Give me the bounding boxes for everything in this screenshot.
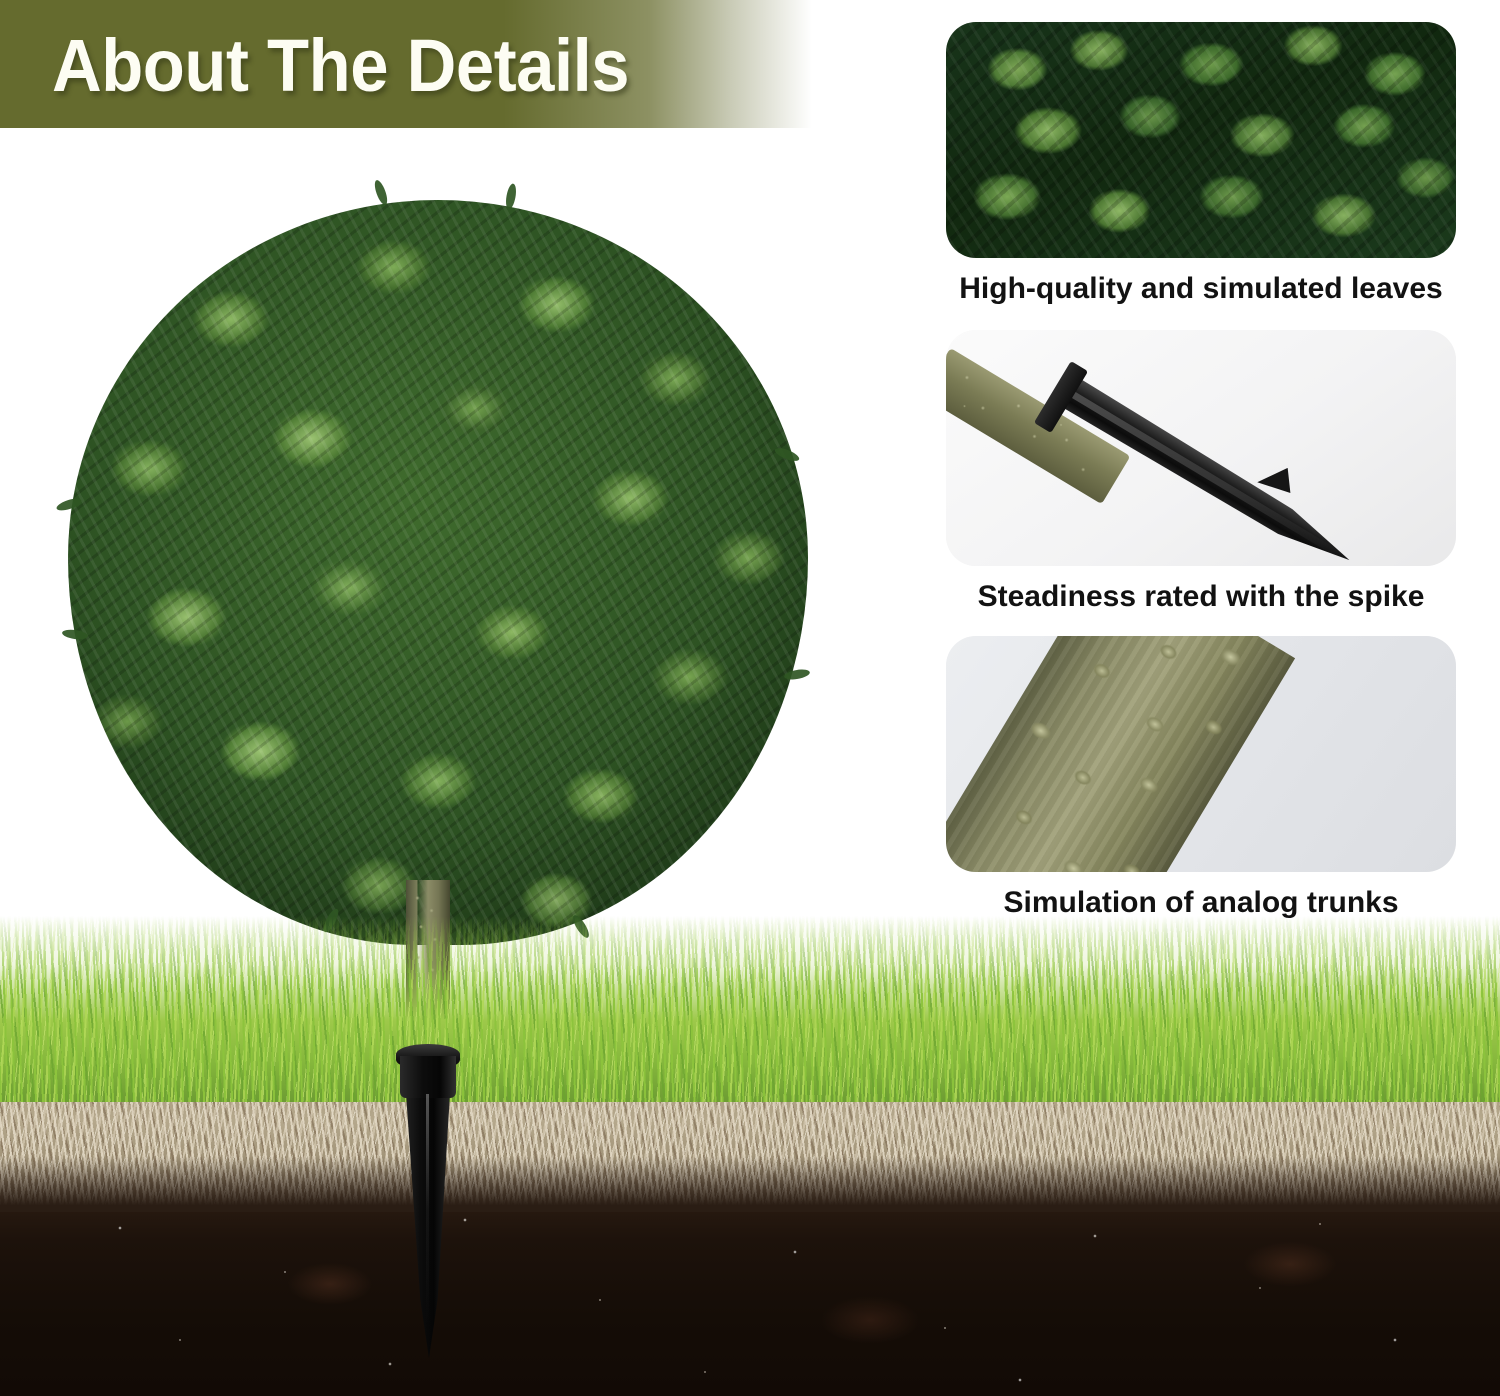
detail-card-trunk — [946, 636, 1456, 872]
detail-caption-spike: Steadiness rated with the spike — [946, 580, 1456, 614]
leaves-photo — [946, 22, 1456, 258]
spike-photo — [946, 330, 1456, 566]
header-banner: About The Details — [0, 0, 812, 128]
detail-caption-trunk: Simulation of analog trunks — [946, 886, 1456, 920]
foliage-ball — [68, 200, 808, 945]
spike-highlight — [426, 1094, 429, 1324]
page-title: About The Details — [52, 18, 740, 114]
trunk-photo-body — [946, 636, 1295, 872]
sprig — [372, 179, 389, 207]
detail-card-spike — [946, 330, 1456, 566]
detail-caption-leaves: High-quality and simulated leaves — [946, 272, 1456, 306]
soil-layer — [0, 1196, 1500, 1396]
sprig — [504, 183, 517, 210]
detail-card-leaves — [946, 22, 1456, 258]
grass-layer — [0, 916, 1500, 1102]
topiary-tree-illustration — [68, 200, 808, 945]
spike-cup — [400, 1056, 456, 1098]
trunk-photo — [946, 636, 1456, 872]
